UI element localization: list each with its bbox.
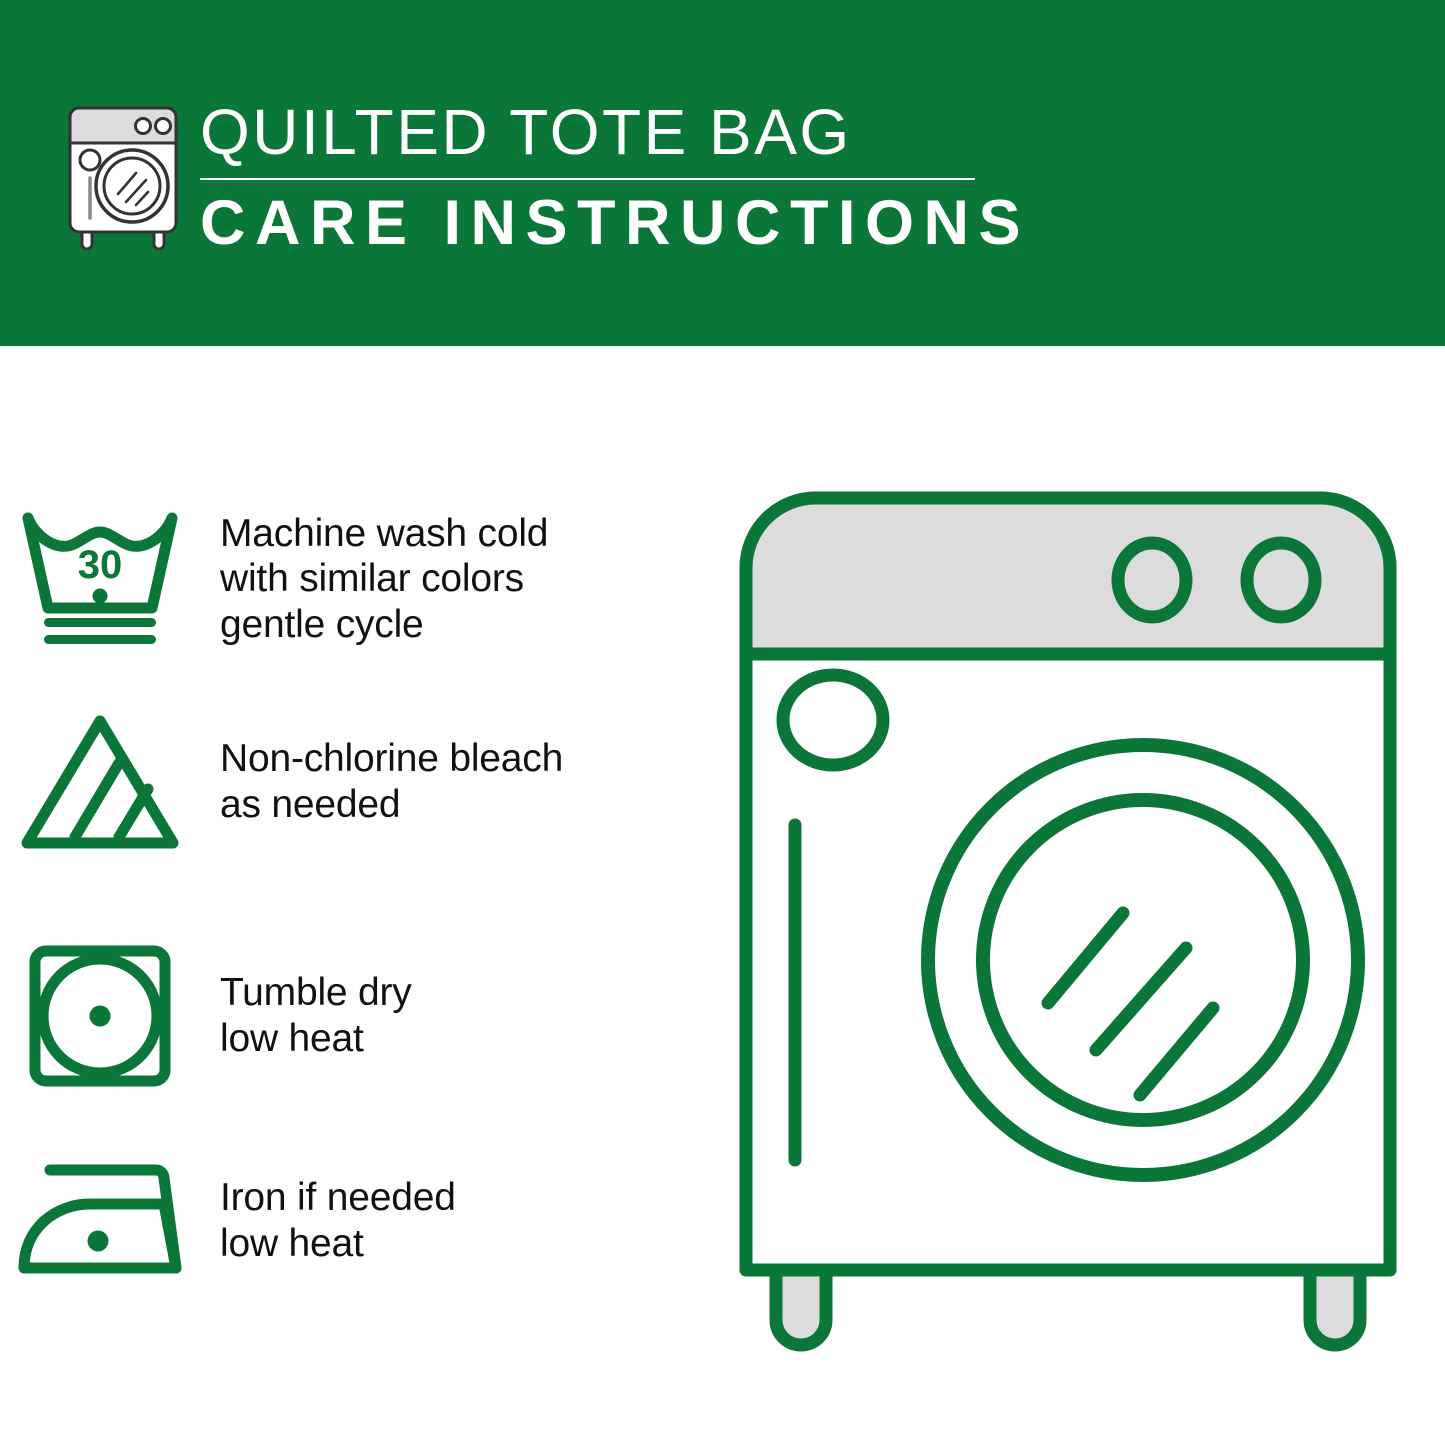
care-row: 30 Machine wash cold with similar colors… — [0, 494, 700, 664]
tumble-dry-low-icon — [0, 936, 200, 1096]
care-row-label: Iron if needed low heat — [200, 1175, 456, 1266]
non-chlorine-bleach-triangle-icon — [0, 706, 200, 858]
care-row-label: Machine wash cold with similar colors ge… — [200, 511, 548, 648]
washing-machine-illustration — [718, 470, 1418, 1370]
care-row-label: Tumble dry low heat — [200, 970, 412, 1061]
care-line: low heat — [220, 1221, 456, 1267]
care-line: Tumble dry — [220, 970, 412, 1016]
care-row-label: Non-chlorine bleach as needed — [200, 736, 563, 827]
care-line: Machine wash cold — [220, 511, 548, 557]
care-row: Tumble dry low heat — [0, 936, 700, 1096]
care-line: low heat — [220, 1016, 412, 1062]
washing-machine-icon — [64, 102, 182, 250]
knob-right — [1247, 543, 1315, 617]
header-title-block: QUILTED TOTE BAG CARE INSTRUCTIONS — [200, 100, 990, 256]
page-title: QUILTED TOTE BAG — [200, 100, 990, 165]
wash-temperature-value: 30 — [78, 543, 123, 587]
iron-low-heat-icon — [0, 1146, 200, 1296]
care-row: Non-chlorine bleach as needed — [0, 706, 700, 858]
page-subtitle: CARE INSTRUCTIONS — [200, 191, 990, 255]
care-line: with similar colors — [220, 556, 548, 602]
care-line: Non-chlorine bleach — [220, 736, 563, 782]
care-instruction-list: 30 Machine wash cold with similar colors… — [0, 346, 700, 1445]
care-line: Iron if needed — [220, 1175, 456, 1221]
detergent-dispenser — [783, 675, 883, 765]
care-line: as needed — [220, 782, 563, 828]
wash-tub-30-icon: 30 — [0, 494, 200, 664]
title-divider — [200, 178, 975, 180]
care-row: Iron if needed low heat — [0, 1146, 700, 1296]
header-banner: QUILTED TOTE BAG CARE INSTRUCTIONS — [0, 0, 1445, 346]
care-line: gentle cycle — [220, 602, 548, 648]
knob-left — [1118, 543, 1186, 617]
